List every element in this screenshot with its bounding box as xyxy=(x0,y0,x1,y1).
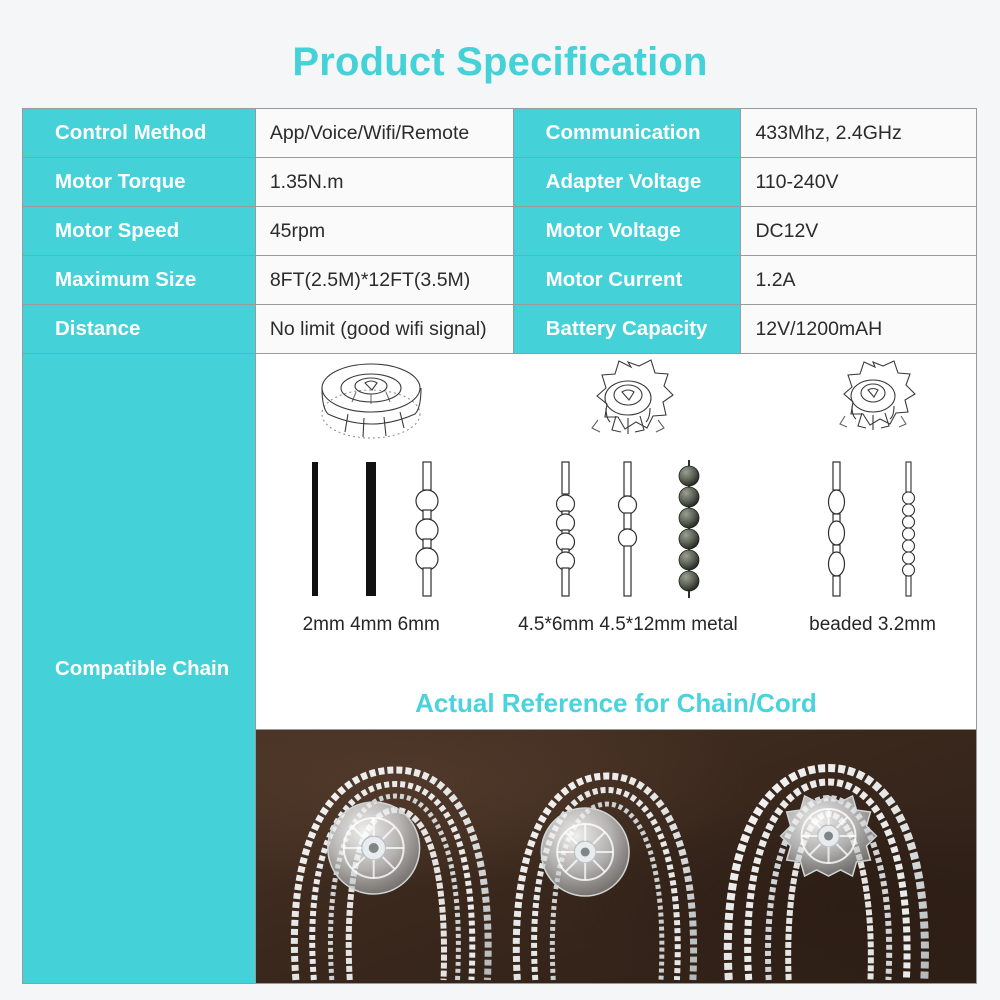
spec-label-maximum-size: Maximum Size xyxy=(23,256,256,305)
table-row: Distance No limit (good wifi signal) Bat… xyxy=(23,305,977,354)
chain-photo-cell xyxy=(255,730,976,984)
chain-groups: 2mm 4mm 6mm xyxy=(256,354,976,654)
cord-2mm xyxy=(302,460,328,598)
table-row: Motor Speed 45rpm Motor Voltage DC12V xyxy=(23,207,977,256)
spec-value-battery-capacity: 12V/1200mAH xyxy=(741,305,977,354)
spec-label-motor-torque: Motor Torque xyxy=(23,158,256,207)
chain-group-caption-cord: 2mm 4mm 6mm xyxy=(303,614,440,636)
chain-6mm xyxy=(411,460,443,598)
sprocket-wheel-icon xyxy=(572,354,684,454)
chain-photo-graphic xyxy=(256,730,976,983)
spec-value-motor-voltage: DC12V xyxy=(741,207,977,256)
spec-label-communication: Communication xyxy=(513,109,741,158)
table-row: Control Method App/Voice/Wifi/Remote Com… xyxy=(23,109,977,158)
chain-slot xyxy=(873,460,945,598)
table-row: Maximum Size 8FT(2.5M)*12FT(3.5M) Motor … xyxy=(23,256,977,305)
cord-pulley-wheel-icon xyxy=(312,354,430,454)
chain-metal xyxy=(675,460,705,598)
chain-slot xyxy=(399,460,455,598)
chain-slot xyxy=(801,460,873,598)
chain-group-caption-sprocket-a: 4.5*6mm 4.5*12mm metal xyxy=(518,614,738,636)
chain-group-cord: 2mm 4mm 6mm xyxy=(287,354,455,636)
chain-slot xyxy=(659,460,721,598)
chain-samples-sprocket-a xyxy=(535,460,721,610)
spec-value-motor-torque: 1.35N.m xyxy=(255,158,513,207)
chain-illustration-panel: 2mm 4mm 6mm xyxy=(256,354,976,729)
spec-value-distance: No limit (good wifi signal) xyxy=(255,305,513,354)
table-row: Motor Torque 1.35N.m Adapter Voltage 110… xyxy=(23,158,977,207)
spec-label-motor-current: Motor Current xyxy=(513,256,741,305)
spec-label-battery-capacity: Battery Capacity xyxy=(513,305,741,354)
chain-slot xyxy=(287,460,343,598)
chain-group-sprocket-a: 4.5*6mm 4.5*12mm metal xyxy=(518,354,738,636)
spec-value-communication: 433Mhz, 2.4GHz xyxy=(741,109,977,158)
chain-4-5x12mm xyxy=(614,460,642,598)
cord-4mm xyxy=(358,460,384,598)
table-row-compatible-chain: Compatible Chain xyxy=(23,354,977,730)
chain-slot xyxy=(597,460,659,598)
actual-reference-caption: Actual Reference for Chain/Cord xyxy=(256,688,976,719)
specification-table-body: Control Method App/Voice/Wifi/Remote Com… xyxy=(23,109,977,984)
specification-table: Control Method App/Voice/Wifi/Remote Com… xyxy=(22,108,977,984)
page-title: Product Specification xyxy=(0,38,1000,86)
spec-label-distance: Distance xyxy=(23,305,256,354)
spec-label-control-method: Control Method xyxy=(23,109,256,158)
compatible-chain-illustrations-cell: 2mm 4mm 6mm xyxy=(255,354,976,730)
chain-samples-sprocket-b xyxy=(801,460,945,610)
spec-label-motor-speed: Motor Speed xyxy=(23,207,256,256)
spec-value-adapter-voltage: 110-240V xyxy=(741,158,977,207)
chain-group-caption-sprocket-b: beaded 3.2mm xyxy=(809,614,936,636)
chain-beaded xyxy=(823,460,851,598)
spec-value-motor-current: 1.2A xyxy=(741,256,977,305)
spec-label-motor-voltage: Motor Voltage xyxy=(513,207,741,256)
chain-reference-photo xyxy=(256,730,976,983)
spec-value-motor-speed: 45rpm xyxy=(255,207,513,256)
spec-value-control-method: App/Voice/Wifi/Remote xyxy=(255,109,513,158)
chain-3-2mm xyxy=(897,460,921,598)
chain-samples-cord xyxy=(287,460,455,610)
chain-group-sprocket-b: beaded 3.2mm xyxy=(801,354,945,636)
spec-value-maximum-size: 8FT(2.5M)*12FT(3.5M) xyxy=(255,256,513,305)
chain-slot xyxy=(535,460,597,598)
chain-4-5x6mm xyxy=(552,460,580,598)
product-specification-page: Product Specification Control Method App… xyxy=(0,0,1000,1000)
chain-slot xyxy=(343,460,399,598)
spec-label-adapter-voltage: Adapter Voltage xyxy=(513,158,741,207)
sprocket-wheel-icon xyxy=(821,354,925,454)
spec-label-compatible-chain: Compatible Chain xyxy=(23,354,256,984)
